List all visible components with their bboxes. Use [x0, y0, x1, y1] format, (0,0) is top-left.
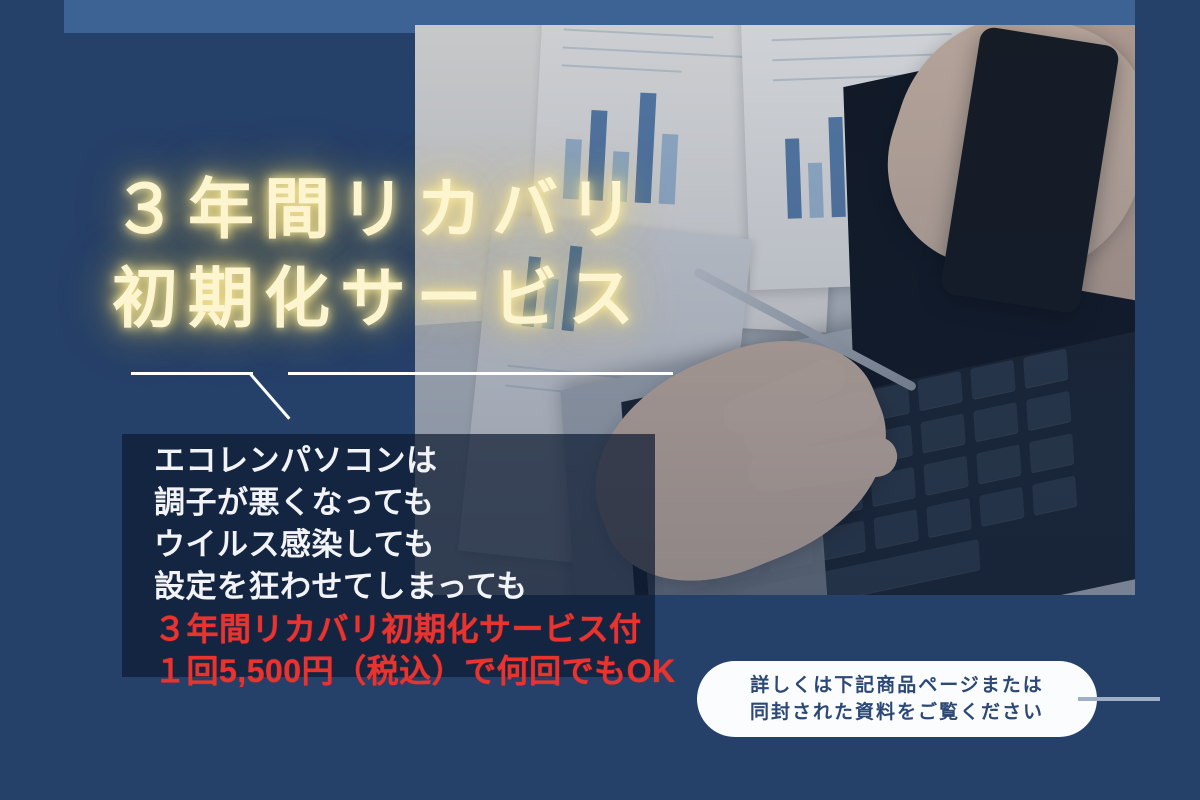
- copy-block: エコレンパソコンは 調子が悪くなっても ウイルス感染しても 設定を狂わせてしまっ…: [154, 440, 674, 692]
- bubble-tail-line: [1078, 697, 1160, 701]
- copy-line: エコレンパソコンは: [154, 440, 674, 482]
- bubble-line-2: 同封された資料をご覧ください: [750, 699, 1044, 726]
- headline-line-2: 初期化サービス: [112, 254, 872, 343]
- copy-line-highlight: ３年間リカバリ初期化サービス付: [154, 608, 674, 650]
- promo-banner: ３年間リカバリ 初期化サービス エコレンパソコンは 調子が悪くなっても ウイルス…: [0, 0, 1200, 800]
- info-callout-bubble: 詳しくは下記商品ページまたは 同封された資料をご覧ください: [697, 661, 1097, 737]
- bubble-line-1: 詳しくは下記商品ページまたは: [750, 672, 1044, 699]
- copy-line: 調子が悪くなっても: [154, 482, 674, 524]
- headline-line-1: ３年間リカバリ: [112, 172, 644, 246]
- copy-line-price: １回5,500円（税込）で何回でもOK: [154, 650, 674, 692]
- divider-rule-right: [288, 372, 673, 375]
- page-title: ３年間リカバリ 初期化サービス: [112, 165, 872, 343]
- divider-rule-diagonal: [249, 373, 291, 420]
- divider-rule-left: [131, 372, 253, 375]
- copy-line: ウイルス感染しても: [154, 524, 674, 566]
- copy-line: 設定を狂わせてしまっても: [154, 566, 674, 608]
